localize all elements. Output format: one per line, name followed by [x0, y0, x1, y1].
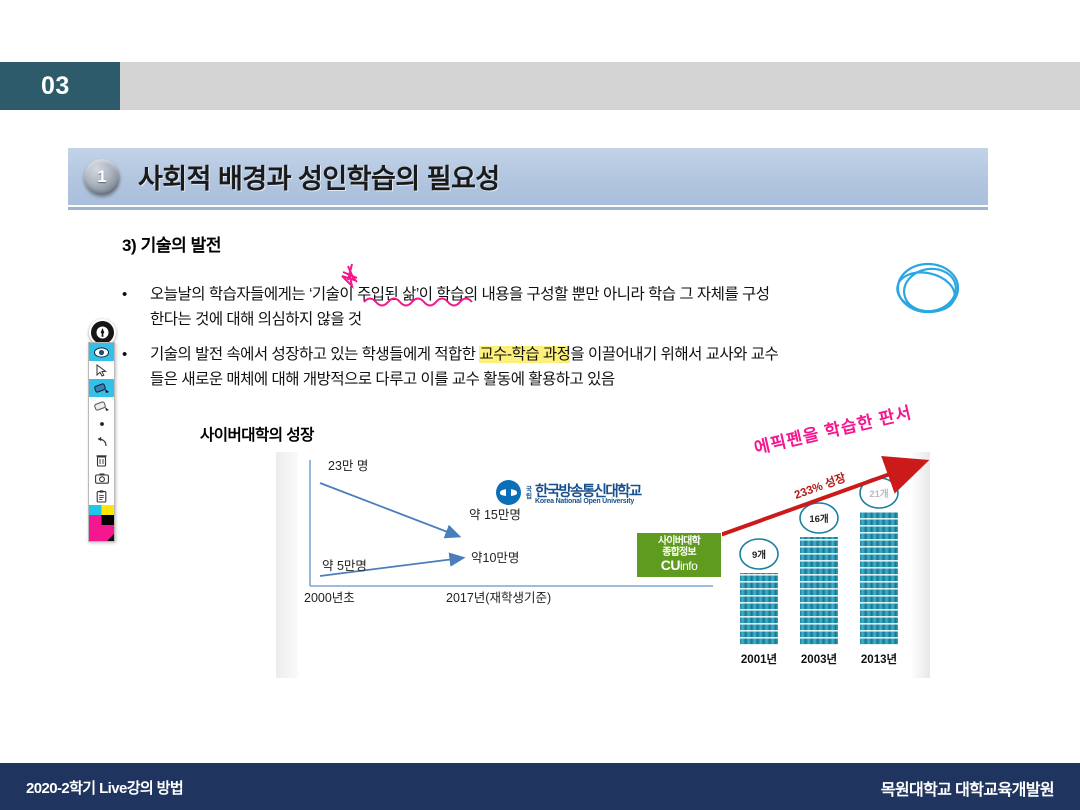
series-1-end-label: 약 15만명: [469, 507, 521, 522]
undo-arrow-icon: [95, 436, 109, 448]
pink-handwriting-note: 에픽펜을 학습한 판서: [751, 398, 914, 459]
eraser-glyph-icon: [94, 400, 110, 412]
bullet-marker: •: [122, 282, 127, 307]
bar-category-2013: 2013년: [861, 652, 897, 666]
trash-can-icon: [96, 454, 107, 467]
cursor-arrow-icon[interactable]: [89, 361, 114, 379]
section-badge: 1: [84, 159, 120, 195]
bullet-1-line-1: 오늘날의 학습자들에게는 ‘기술이 주입된 삶’이 학습의 내용을 구성할 뿐만…: [150, 286, 770, 303]
marker-pen-icon: [94, 382, 110, 394]
eraser-icon[interactable]: [89, 397, 114, 415]
bullet-2-line-1a: 기술의 발전 속에서 성장하고 있는 학생들에게 적합한: [150, 346, 479, 363]
epicpen-toolbar[interactable]: [88, 342, 115, 542]
knou-kr-prefix: 국립: [526, 486, 532, 500]
cuinfo-brand: CUinfo: [637, 558, 721, 574]
series-1-start-label: 23만 명: [328, 459, 368, 473]
color-palette[interactable]: [89, 505, 114, 541]
knou-emblem-icon: [496, 480, 521, 505]
x-tick-2000: 2000년초: [304, 591, 355, 605]
bullet-marker: •: [122, 342, 127, 367]
undo-icon[interactable]: [89, 433, 114, 451]
knou-name-en: Korea National Open University: [535, 498, 641, 505]
bar-value-2001: 9개: [752, 549, 766, 561]
series-2-start-label: 약 5만명: [322, 558, 367, 573]
bar-2001: [740, 573, 778, 645]
bar-category-2003: 2003년: [801, 652, 837, 666]
x-tick-2017: 2017년(재학생기준): [446, 591, 551, 605]
cuinfo-brand-light: info: [680, 559, 697, 573]
ink-annotations: [0, 0, 1080, 810]
bullet-1-line-2: 한다는 것에 대해 의심하지 않을 것: [150, 311, 362, 328]
bullet-item-1: • 오늘날의 학습자들에게는 ‘기술이 주입된 삶’이 학습의 내용을 구성할 …: [150, 282, 980, 332]
bar-2013: [860, 512, 898, 645]
cuinfo-line-1: 사이버대학: [637, 536, 721, 547]
footer-left-text: 2020-2학기 Live강의 방법: [26, 777, 183, 798]
highlighter-icon[interactable]: [89, 379, 114, 397]
dot-icon: [98, 420, 106, 428]
footer-right-text: 목원대학교 대학교육개발원: [881, 776, 1054, 800]
section-number-box: 03: [0, 62, 120, 110]
trash-icon[interactable]: [89, 451, 114, 469]
visibility-eye-icon[interactable]: [89, 343, 114, 361]
title-underline: [68, 207, 988, 210]
series-2-end-label: 약10만명: [471, 550, 519, 565]
brush-size-dot-icon[interactable]: [89, 415, 114, 433]
subheading: 3) 기술의 발전: [122, 231, 221, 256]
bar-chart-svg: 9개 16개 21개 2001년 2003년 2013년 233% 성장: [722, 455, 934, 680]
color-swatches-icon: [89, 505, 114, 541]
epicpen-logo-icon: [96, 326, 109, 339]
bar-category-2001: 2001년: [741, 652, 777, 666]
highlighted-phrase: 교수-학습 과정: [479, 346, 570, 363]
cuinfo-box: 사이버대학 종합정보 CUinfo: [637, 533, 721, 577]
bullet-item-2: • 기술의 발전 속에서 성장하고 있는 학생들에게 적합한 교수-학습 과정을…: [150, 342, 980, 392]
bar-2003: [800, 537, 838, 645]
screenshot-icon[interactable]: [89, 469, 114, 487]
header-band: [0, 62, 1080, 110]
cuinfo-brand-bold: CU: [661, 557, 680, 573]
chart-title: 사이버대학의 성장: [200, 423, 314, 445]
knou-logo: 국립 한국방송통신대학교 Korea National Open Univers…: [496, 480, 641, 505]
bullet-2-line-1b: 을 이끌어내기 위해서 교사와 교수: [570, 346, 778, 363]
clipboard-icon[interactable]: [89, 487, 114, 505]
page-title: 사회적 배경과 성인학습의 필요성: [138, 157, 500, 196]
bar-value-2003: 16개: [809, 513, 828, 525]
section-number: 03: [41, 72, 70, 101]
bar-value-2013: 21개: [869, 488, 888, 500]
camera-icon: [95, 473, 109, 484]
clipboard-glyph-icon: [96, 490, 107, 503]
pointer-icon: [96, 364, 108, 377]
section-title-bar: 1 사회적 배경과 성인학습의 필요성: [68, 148, 988, 205]
eye-icon: [94, 347, 109, 358]
bullet-2-line-2: 들은 새로운 매체에 대해 개방적으로 다루고 이를 교수 활동에 활용하고 있…: [150, 371, 615, 388]
footer-bar: 2020-2학기 Live강의 방법 목원대학교 대학교육개발원: [0, 763, 1080, 810]
